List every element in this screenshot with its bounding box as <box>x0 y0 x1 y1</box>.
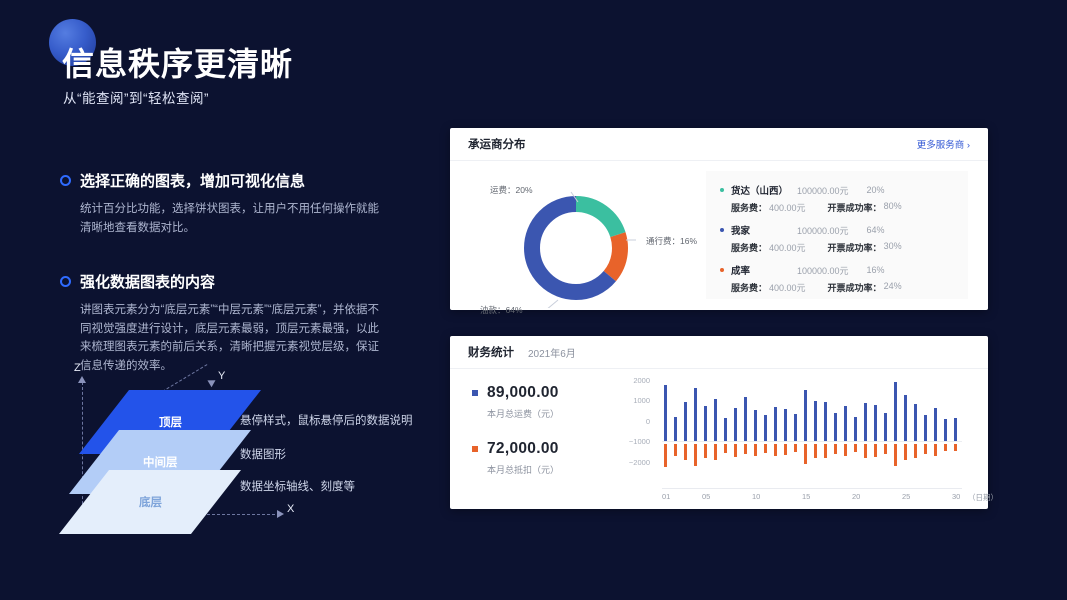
bar-positive <box>894 382 897 441</box>
y-axis-tick: 1000 <box>620 396 650 405</box>
section-heading: 强化数据图表的内容 <box>60 271 380 292</box>
bar-positive <box>744 397 747 441</box>
bar-positive <box>754 410 757 441</box>
legend-primary-line: 成率 100000.00元 16% <box>720 263 954 277</box>
bar-negative <box>874 444 877 457</box>
bar-negative <box>694 444 697 466</box>
bar-positive <box>664 385 667 441</box>
page-subtitle: 从“能查阅”到“轻松查阅” <box>63 87 209 107</box>
donut-chart: 运费：20% 通行费：16% 油款：64% <box>468 166 718 306</box>
stat-total-deduction: 72,000.00 本月总抵扣（元） <box>472 440 617 476</box>
finance-bar-chart: 200010000−1000−2000 01051015202530（日期） <box>620 376 970 496</box>
zero-baseline <box>662 441 962 442</box>
axis-label-x: X <box>287 503 294 515</box>
bar-negative <box>774 444 777 456</box>
x-axis-tick: 15 <box>802 492 810 501</box>
legend-percent: 64% <box>867 225 885 235</box>
legend-amount: 100000.00元 <box>797 264 849 277</box>
legend-provider-name: 我家 <box>731 223 793 237</box>
legend-invoice-rate-value: 30% <box>884 241 902 254</box>
axis-arrow-x-icon <box>277 510 284 518</box>
legend-secondary-line: 服务费： 400.00元 开票成功率： 24% <box>731 281 954 294</box>
legend-amount: 100000.00元 <box>797 184 849 197</box>
layer-label-bottom: 底层 <box>139 494 162 510</box>
bar-positive <box>684 402 687 441</box>
legend-primary-line: 我家 100000.00元 64% <box>720 223 954 237</box>
stat-value: 72,000.00 <box>487 440 559 458</box>
legend-percent: 20% <box>867 185 885 195</box>
y-axis-tick: 0 <box>620 417 650 426</box>
page-title: 信息秩序更清晰 <box>62 39 293 85</box>
carrier-legend-panel: 货达（山西） 100000.00元 20% 服务费： 400.00元 开票成功率… <box>706 171 968 299</box>
bar-positive <box>914 404 917 441</box>
layer-note-top: 悬停样式，鼠标悬停后的数据说明 <box>240 412 413 428</box>
bar-plot-area <box>662 380 962 472</box>
legend-primary-line: 货达（山西） 100000.00元 20% <box>720 183 954 197</box>
bar-positive <box>844 406 847 441</box>
x-axis-tick: 01 <box>662 492 670 501</box>
finance-stat-list: 89,000.00 本月总运费（元） 72,000.00 本月总抵扣（元） <box>472 384 617 496</box>
stat-marker-icon <box>472 446 478 452</box>
donut-chart-svg <box>516 188 636 308</box>
bullet-ring-icon <box>60 276 71 287</box>
bar-negative <box>744 444 747 454</box>
stat-total-freight: 89,000.00 本月总运费（元） <box>472 384 617 420</box>
bar-positive <box>674 417 677 441</box>
donut-label-tollfee: 通行费：16% <box>646 235 697 247</box>
legend-item[interactable]: 我家 100000.00元 64% 服务费： 400.00元 开票成功率： 30… <box>720 223 954 254</box>
bar-negative <box>824 444 827 458</box>
carrier-distribution-card: 承运商分布 更多服务商 › 运费：20% 通行费：16% 油款：64% 货达（山… <box>450 128 988 310</box>
legend-secondary-line: 服务费： 400.00元 开票成功率： 30% <box>731 241 954 254</box>
bar-negative <box>884 444 887 454</box>
card-period: 2021年6月 <box>528 345 576 360</box>
layer-diagram: Z Y X 顶层 中间层 底层 悬停样式，鼠标悬停后的数据说明 数据图形 数据坐… <box>68 368 408 528</box>
x-axis-title: （日期） <box>968 492 998 503</box>
stat-value: 89,000.00 <box>487 384 559 402</box>
bar-positive <box>774 407 777 441</box>
axis-label-y: Y <box>218 370 225 382</box>
bar-positive <box>804 390 807 441</box>
bar-positive <box>794 414 797 441</box>
stat-value-row: 89,000.00 <box>472 384 617 402</box>
axis-label-z: Z <box>74 362 81 374</box>
legend-service-fee-label: 服务费： <box>731 201 767 214</box>
section-heading: 选择正确的图表，增加可视化信息 <box>60 170 380 191</box>
legend-service-fee-label: 服务费： <box>731 241 767 254</box>
section-title: 强化数据图表的内容 <box>80 271 215 292</box>
bar-positive <box>714 399 717 441</box>
legend-invoice-rate-value: 80% <box>884 201 902 214</box>
stat-caption: 本月总抵扣（元） <box>487 463 617 476</box>
legend-invoice-rate-label: 开票成功率： <box>828 281 882 294</box>
bar-positive <box>884 413 887 441</box>
legend-item[interactable]: 货达（山西） 100000.00元 20% 服务费： 400.00元 开票成功率… <box>720 183 954 214</box>
bar-positive <box>704 406 707 441</box>
x-axis-tick: 05 <box>702 492 710 501</box>
bar-negative <box>944 444 947 451</box>
bar-negative <box>834 444 837 454</box>
bar-negative <box>704 444 707 458</box>
axis-arrow-y-icon <box>207 377 217 387</box>
bar-negative <box>924 444 927 454</box>
bullet-ring-icon <box>60 175 71 186</box>
bar-positive <box>734 408 737 441</box>
bar-positive <box>724 418 727 441</box>
bar-negative <box>714 444 717 460</box>
legend-service-fee-value: 400.00元 <box>769 201 806 214</box>
y-axis-tick: −2000 <box>620 458 650 467</box>
bar-negative <box>664 444 667 467</box>
legend-service-fee-value: 400.00元 <box>769 281 806 294</box>
bar-negative <box>764 444 767 453</box>
bar-negative <box>734 444 737 457</box>
stat-caption: 本月总运费（元） <box>487 407 617 420</box>
bar-positive <box>854 417 857 441</box>
x-axis-tick: 20 <box>852 492 860 501</box>
bar-positive <box>814 401 817 441</box>
card-title: 财务统计 <box>468 344 514 360</box>
x-axis-tick: 10 <box>752 492 760 501</box>
legend-dot-icon <box>720 188 724 192</box>
x-axis-line <box>662 488 962 489</box>
legend-percent: 16% <box>867 265 885 275</box>
bar-negative <box>724 444 727 453</box>
x-axis-tick: 25 <box>902 492 910 501</box>
donut-label-fuel: 油款：64% <box>480 304 523 316</box>
layer-label-top: 顶层 <box>159 414 182 430</box>
finance-statistics-card: 财务统计 2021年6月 89,000.00 本月总运费（元） 72,000.0… <box>450 336 988 509</box>
x-axis-tick: 30 <box>952 492 960 501</box>
legend-provider-name: 货达（山西） <box>731 183 793 197</box>
bar-negative <box>794 444 797 452</box>
bar-positive <box>694 388 697 441</box>
section-chart-content: 强化数据图表的内容 讲图表元素分为“底层元素”“中层元素”“底层元素”，并依据不… <box>60 271 380 376</box>
y-axis-tick: −1000 <box>620 437 650 446</box>
bar-negative <box>844 444 847 456</box>
layer-note-middle: 数据图形 <box>240 446 286 462</box>
legend-dot-icon <box>720 228 724 232</box>
legend-provider-name: 成率 <box>731 263 793 277</box>
bar-positive <box>924 415 927 441</box>
y-axis-tick: 2000 <box>620 376 650 385</box>
bar-positive <box>834 413 837 441</box>
bar-positive <box>784 409 787 441</box>
legend-invoice-rate-label: 开票成功率： <box>828 241 882 254</box>
more-providers-link[interactable]: 更多服务商 › <box>917 137 970 151</box>
legend-service-fee-label: 服务费： <box>731 281 767 294</box>
card-header: 承运商分布 更多服务商 › <box>450 128 988 161</box>
bar-negative <box>904 444 907 460</box>
bar-positive <box>954 418 957 441</box>
legend-secondary-line: 服务费： 400.00元 开票成功率： 80% <box>731 201 954 214</box>
layer-label-middle: 中间层 <box>143 454 178 470</box>
donut-leader-line-fuel <box>546 300 558 308</box>
legend-item[interactable]: 成率 100000.00元 16% 服务费： 400.00元 开票成功率： 24… <box>720 263 954 294</box>
bar-negative <box>954 444 957 451</box>
bar-negative <box>814 444 817 458</box>
bar-negative <box>894 444 897 466</box>
stat-marker-icon <box>472 390 478 396</box>
donut-label-freight: 运费：20% <box>490 184 533 196</box>
card-title: 承运商分布 <box>468 136 526 152</box>
legend-dot-icon <box>720 268 724 272</box>
section-chart-choice: 选择正确的图表，增加可视化信息 统计百分比功能，选择饼状图表，让用户不用任何操作… <box>60 170 380 237</box>
bar-positive <box>864 403 867 441</box>
bar-negative <box>684 444 687 460</box>
stat-value-row: 72,000.00 <box>472 440 617 458</box>
section-title: 选择正确的图表，增加可视化信息 <box>80 170 305 191</box>
legend-invoice-rate-value: 24% <box>884 281 902 294</box>
bar-negative <box>754 444 757 456</box>
axis-arrow-z-icon <box>78 376 86 383</box>
legend-invoice-rate-label: 开票成功率： <box>828 201 882 214</box>
bar-negative <box>804 444 807 464</box>
bar-positive <box>824 402 827 441</box>
layer-note-bottom: 数据坐标轴线、刻度等 <box>240 478 355 494</box>
bar-positive <box>934 408 937 441</box>
bar-negative <box>784 444 787 455</box>
legend-service-fee-value: 400.00元 <box>769 241 806 254</box>
card-header: 财务统计 2021年6月 <box>450 336 988 369</box>
bar-positive <box>874 405 877 441</box>
bar-positive <box>944 419 947 441</box>
legend-amount: 100000.00元 <box>797 224 849 237</box>
bar-negative <box>854 444 857 452</box>
bar-positive <box>904 395 907 441</box>
bar-negative <box>934 444 937 456</box>
bar-negative <box>914 444 917 458</box>
bar-negative <box>674 444 677 456</box>
bar-positive <box>764 415 767 441</box>
section-body: 统计百分比功能，选择饼状图表，让用户不用任何操作就能清晰地查看数据对比。 <box>80 200 380 237</box>
bar-negative <box>864 444 867 458</box>
section-body: 讲图表元素分为“底层元素”“中层元素”“底层元素”，并依据不同视觉强度进行设计，… <box>80 301 380 376</box>
